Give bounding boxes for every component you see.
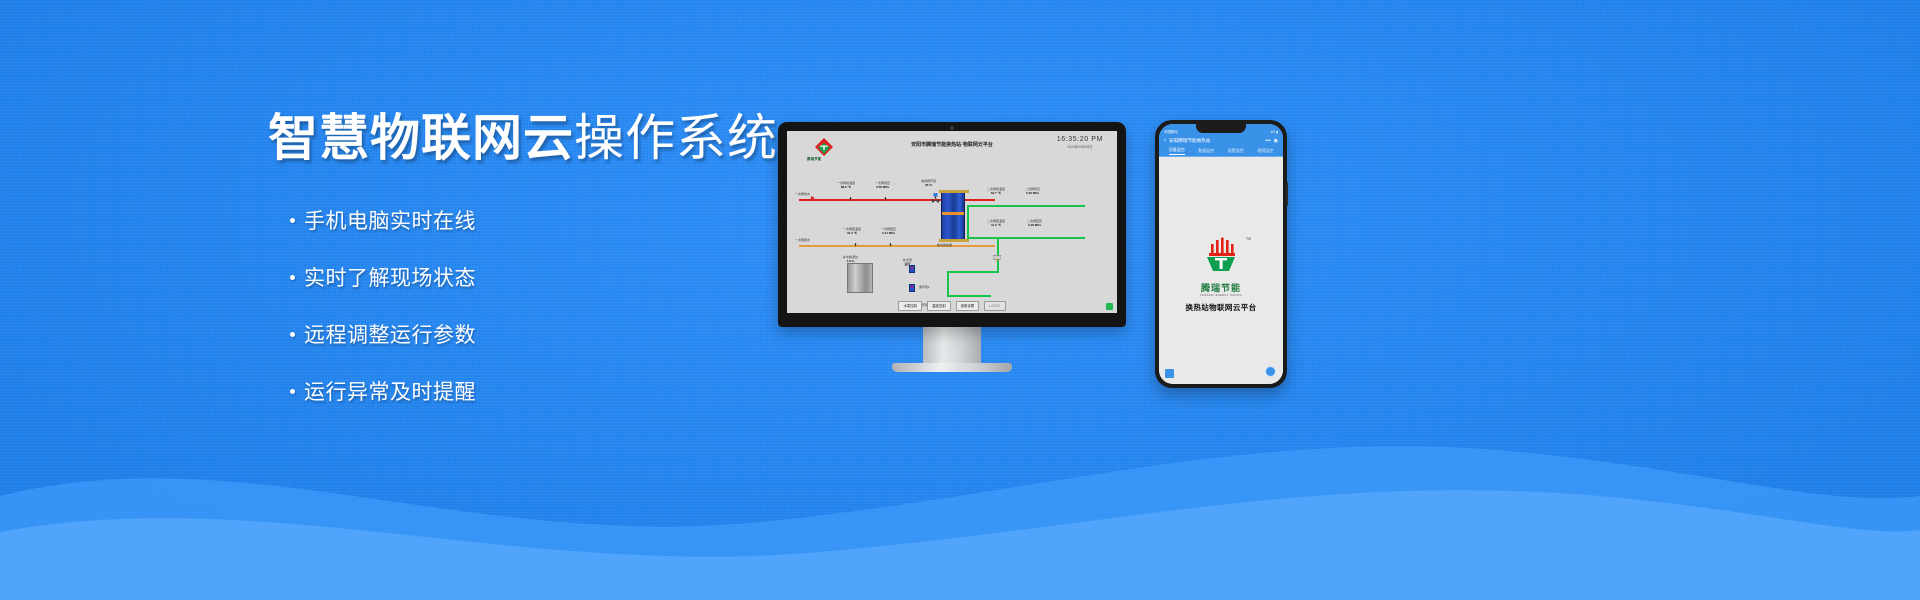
label-primary-supply-line: 一次网供水 bbox=[795, 192, 810, 196]
pump-control-button[interactable]: 水泵控制 bbox=[898, 301, 922, 311]
clock-date: 2020年04月05日 bbox=[1057, 144, 1103, 149]
pump-status-indicator bbox=[911, 286, 913, 288]
feature-label: 实时了解现场状态 bbox=[304, 262, 476, 292]
pump-status-indicator bbox=[911, 267, 913, 269]
bullet-dot-icon bbox=[290, 218, 295, 223]
monitor-stand-neck bbox=[923, 327, 981, 363]
tab-device-monitor[interactable]: 设备监控 bbox=[1169, 147, 1185, 155]
background-wave-decoration bbox=[0, 400, 1920, 600]
phone-bottom-badge-icon[interactable] bbox=[1165, 369, 1174, 378]
scada-title: 安阳市腾瑞节能换热站·物联网云平台 bbox=[911, 141, 993, 148]
logo-button[interactable]: LOGO bbox=[984, 301, 1005, 310]
chevron-left-icon[interactable]: ‹ bbox=[1164, 138, 1166, 144]
phone-content-area: TM 腾瑞节能 TENGRUI ENERGY SAVING 换热站物联网云平台 bbox=[1159, 157, 1283, 384]
heat-exchanger bbox=[941, 191, 965, 241]
page-title: 智慧物联网云操作系统 bbox=[268, 112, 788, 165]
list-item: 远程调整运行参数 bbox=[290, 313, 788, 355]
trademark-label: TM bbox=[1246, 237, 1251, 241]
label-circulation-pump-1: 循环泵1 bbox=[919, 285, 930, 289]
phone-page-title: 安阳腾瑞节能换热站 bbox=[1169, 138, 1262, 144]
feature-list: 手机电脑实时在线 实时了解现场状态 远程调整运行参数 运行异常及时提醒 bbox=[268, 199, 788, 412]
feature-label: 远程调整运行参数 bbox=[304, 319, 476, 349]
sensor-icon bbox=[888, 242, 893, 247]
label-primary-return-press: 一次网回压 0.41 MPa bbox=[881, 227, 896, 235]
label-secondary-supply-temp: 二次网供温度 52.7 ℃ bbox=[987, 187, 1005, 195]
parameter-settings-button[interactable]: 参数设置 bbox=[956, 301, 980, 311]
list-item: 手机电脑实时在线 bbox=[290, 199, 788, 241]
bullet-dot-icon bbox=[290, 332, 295, 337]
tab-alarm-monitor[interactable]: 报警监控 bbox=[1228, 148, 1244, 154]
label-makeup-pump: 补水泵 运行 bbox=[903, 258, 912, 266]
phone-body: 中国移动 4G ▮ ‹ 安阳腾瑞节能换热站 ••• ◉ 设备监控 数据监控 报警… bbox=[1155, 120, 1287, 388]
label-heat-exchanger: 板式换热器 bbox=[937, 243, 952, 247]
tengrui-logo: TM bbox=[1199, 235, 1243, 275]
headline-light: 操作系统 bbox=[574, 110, 778, 166]
list-item: 实时了解现场状态 bbox=[290, 256, 788, 298]
label-primary-supply-press: 一次网供压 0.58 MPa bbox=[875, 181, 890, 189]
makeup-water-tank bbox=[847, 263, 873, 293]
label-primary-return-line: 一次网回水 bbox=[795, 238, 810, 242]
clock-time: 16:35:20 PM bbox=[1057, 136, 1103, 143]
pipe-secondary-bottom bbox=[947, 295, 991, 297]
target-circle-icon[interactable]: ◉ bbox=[1274, 138, 1278, 144]
list-item: 运行异常及时提醒 bbox=[290, 370, 788, 412]
phone-power-button[interactable] bbox=[1286, 182, 1288, 206]
phone-screen: 中国移动 4G ▮ ‹ 安阳腾瑞节能换热站 ••• ◉ 设备监控 数据监控 报警… bbox=[1159, 124, 1283, 384]
scada-process-diagram: 一次网供水 一次网供温度 88.6 ℃ 一次网供压 0.58 MPa 电调阀开度… bbox=[791, 159, 1113, 291]
pipe-secondary-loop bbox=[947, 271, 999, 273]
monitor-bezel: 腾瑞节能 安阳市腾瑞节能换热站·物联网云平台 16:35:20 PM 2020年… bbox=[778, 122, 1126, 327]
pipe-secondary-riser bbox=[967, 205, 969, 237]
tab-video-monitor[interactable]: 视频监控 bbox=[1257, 148, 1273, 154]
hero-copy: 智慧物联网云操作系统 手机电脑实时在线 实时了解现场状态 远程调整运行参数 运行… bbox=[268, 112, 788, 427]
more-dots-icon[interactable]: ••• bbox=[1265, 138, 1270, 144]
temperature-control-button[interactable]: 温度控制 bbox=[927, 301, 951, 311]
bullet-dot-icon bbox=[290, 275, 295, 280]
feature-label: 手机电脑实时在线 bbox=[304, 205, 476, 235]
scada-clock: 16:35:20 PM 2020年04月05日 bbox=[1057, 136, 1103, 149]
phone-caption: 换热站物联网云平台 bbox=[1159, 302, 1283, 313]
pipe-secondary-supply bbox=[967, 205, 1085, 207]
scada-header: 腾瑞节能 安阳市腾瑞节能换热站·物联网云平台 16:35:20 PM 2020年… bbox=[787, 131, 1117, 159]
brand-name-cn: 腾瑞节能 bbox=[1159, 281, 1283, 294]
electric-valve-icon bbox=[931, 193, 940, 203]
phone-nav-bar: ‹ 安阳腾瑞节能换热站 ••• ◉ bbox=[1159, 135, 1283, 146]
pipe-primary-supply bbox=[799, 199, 995, 201]
pipe-secondary-return bbox=[967, 237, 1085, 239]
feature-label: 运行异常及时提醒 bbox=[304, 376, 476, 406]
phone-notch bbox=[1196, 124, 1246, 133]
sensor-icon bbox=[853, 242, 858, 247]
signal-battery-icon: 4G ▮ bbox=[1271, 130, 1278, 134]
flow-meter-icon bbox=[993, 255, 1001, 261]
label-secondary-return-temp: 二次网回温度 41.2 ℃ bbox=[987, 219, 1005, 227]
label-primary-supply-temp: 一次网供温度 88.6 ℃ bbox=[837, 181, 855, 189]
phone-tab-bar: 设备监控 数据监控 报警监控 视频监控 bbox=[1159, 146, 1283, 157]
bullet-dot-icon bbox=[290, 389, 295, 394]
label-makeup-tank: 补水箱液位 1.8 m bbox=[843, 255, 858, 263]
label-secondary-return-press: 二次网回压 0.28 MPa bbox=[1027, 219, 1042, 227]
brand-name-en: TENGRUI ENERGY SAVING bbox=[1159, 294, 1283, 297]
label-electric-valve-open: 电调阀开度 65 % bbox=[921, 179, 936, 187]
webcam-icon bbox=[950, 126, 954, 130]
sensor-icon bbox=[848, 196, 853, 201]
headline-strong: 智慧物联网云 bbox=[268, 110, 574, 166]
tengrui-logo bbox=[813, 137, 835, 157]
mobile-phone-mockup: 中国移动 4G ▮ ‹ 安阳腾瑞节能换热站 ••• ◉ 设备监控 数据监控 报警… bbox=[1155, 120, 1287, 388]
desktop-monitor-mockup: 腾瑞节能 安阳市腾瑞节能换热站·物联网云平台 16:35:20 PM 2020年… bbox=[778, 122, 1126, 372]
status-badge bbox=[1106, 303, 1113, 310]
pipe-primary-return bbox=[799, 245, 995, 247]
tab-data-monitor[interactable]: 数据监控 bbox=[1198, 148, 1214, 154]
label-secondary-supply-press: 二次网供压 0.36 MPa bbox=[1025, 187, 1040, 195]
pipe-secondary-down bbox=[947, 271, 949, 295]
phone-floating-action-button[interactable] bbox=[1265, 366, 1276, 377]
sensor-icon bbox=[883, 196, 888, 201]
pipe-secondary-branch bbox=[997, 237, 999, 271]
monitor-stand-base bbox=[892, 363, 1012, 372]
phone-brand-block: TM 腾瑞节能 TENGRUI ENERGY SAVING 换热站物联网云平台 bbox=[1159, 235, 1283, 313]
flow-arrow-icon bbox=[811, 196, 815, 200]
scada-toolbar: 水泵控制 温度控制 参数设置 LOGO bbox=[787, 301, 1117, 311]
monitor-screen: 腾瑞节能 安阳市腾瑞节能换热站·物联网云平台 16:35:20 PM 2020年… bbox=[787, 131, 1117, 313]
label-primary-return-temp: 一次网回温度 42.3 ℃ bbox=[843, 227, 861, 235]
carrier-label: 中国移动 bbox=[1164, 129, 1178, 134]
